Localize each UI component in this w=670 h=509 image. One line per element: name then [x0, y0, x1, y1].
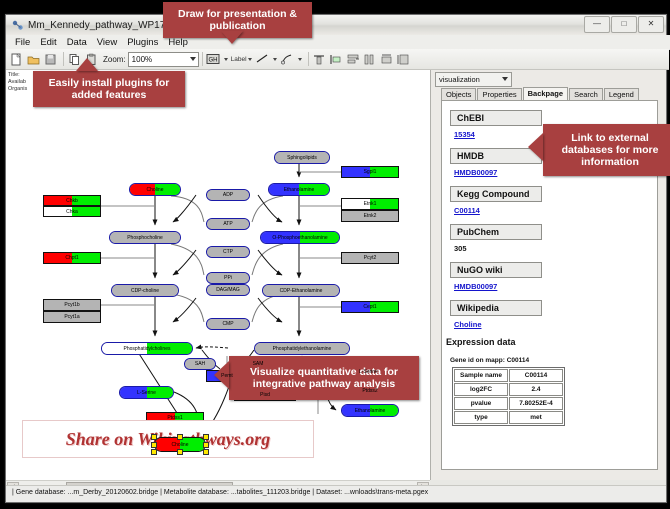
meta-availability: Availab: [8, 79, 27, 86]
toolbar-separator-3: [308, 52, 309, 66]
meta-title: Title:: [8, 72, 27, 79]
selection-handle-6[interactable]: [177, 449, 183, 455]
db-name-chebi: ChEBI: [450, 110, 542, 126]
interaction-icon[interactable]: [280, 52, 295, 67]
title-bar: Mm_Kennedy_pathway_WP1771_45176.gpml — □…: [6, 15, 666, 36]
pathway-node-phosphatidylethanolamine[interactable]: Phosphatidylethanolamine: [254, 342, 350, 355]
db-name-pubchem: PubChem: [450, 224, 542, 240]
minimize-button[interactable]: —: [584, 16, 610, 33]
pathway-node-label: Sgpl1: [364, 169, 377, 175]
label-tool-text[interactable]: Label: [231, 56, 247, 63]
expr-val-3: met: [509, 411, 563, 424]
pathway-node-ethanolamine_top[interactable]: Ethanolamine: [268, 183, 330, 196]
distribute-vertical-icon[interactable]: [346, 52, 361, 67]
db-block-pubchem: PubChem 305: [450, 222, 657, 253]
pathway-canvas[interactable]: Title: Availab Organis: [6, 70, 431, 480]
db-link-nugo[interactable]: HMDB00097: [454, 282, 657, 291]
expr-val-1: 2.4: [509, 383, 563, 396]
visualization-select-value: visualization: [439, 75, 480, 84]
menu-plugins[interactable]: Plugins: [122, 36, 163, 49]
pathway-node-pcyt1a[interactable]: Pcyt1a: [43, 311, 101, 323]
menu-bar: File Edit Data View Plugins Help: [6, 35, 670, 50]
db-block-wikipedia: Wikipedia Choline: [450, 298, 657, 329]
db-name-nugo: NuGO wiki: [450, 262, 542, 278]
pathway-node-label: Phosphocholine: [127, 235, 163, 241]
pathway-node-label: Choline: [172, 442, 189, 448]
pathway-node-label: Phosphatidylethanolamine: [273, 346, 332, 352]
pathway-node-label: Choline: [147, 187, 164, 193]
pathway-node-cdp_ethanolamine[interactable]: CDP-Ethanolamine: [262, 284, 340, 297]
common-height-icon[interactable]: [397, 52, 412, 67]
datanode-icon[interactable]: GH: [206, 52, 221, 67]
pathway-node-etnk2[interactable]: Etnk2: [341, 210, 399, 222]
pathway-node-cmp[interactable]: CMP: [206, 318, 250, 330]
meta-organism: Organis: [8, 86, 27, 93]
menu-data[interactable]: Data: [62, 36, 92, 49]
expression-data-heading: Expression data: [446, 337, 657, 347]
selection-handle-7[interactable]: [203, 449, 209, 455]
pathway-node-l_serine_left[interactable]: L-Serine: [119, 386, 174, 399]
distribute-horizontal-icon[interactable]: [363, 52, 378, 67]
pathway-node-label: PPi: [224, 275, 232, 281]
zoom-label: Zoom:: [103, 55, 126, 64]
expr-key-1: log2FC: [454, 383, 508, 396]
table-row: Sample name C00114: [454, 369, 563, 382]
callout-links-text: Link to external databases for more info…: [549, 132, 670, 168]
pathway-node-label: Pcyt1b: [64, 302, 79, 308]
pathway-node-label: Pemt: [221, 373, 233, 379]
pathway-node-label: CDP-Ethanolamine: [280, 288, 323, 294]
screenshot-root: Mm_Kennedy_pathway_WP1771_45176.gpml — □…: [0, 0, 670, 509]
expr-val-2: 7.80252E-4: [509, 397, 563, 410]
selection-handle-4[interactable]: [203, 442, 209, 448]
pathway-node-dagmag[interactable]: DAG/MAG: [206, 284, 250, 296]
expression-table: Sample name C00114 log2FC 2.4 pvalue 7.8…: [452, 367, 565, 426]
pathway-node-label: CMP: [222, 321, 233, 327]
pathway-node-label: Pcyt2: [364, 255, 377, 261]
selection-handle-2[interactable]: [203, 434, 209, 440]
callout-links: Link to external databases for more info…: [543, 124, 670, 176]
db-name-wikipedia: Wikipedia: [450, 300, 542, 316]
callout-plugins-arrow-icon: [76, 58, 98, 71]
window-buttons: — □ ✕: [584, 16, 664, 33]
pathway-node-label: Etnk1: [364, 201, 377, 207]
pathway-node-ethanolamine_right[interactable]: Ethanolamine: [341, 404, 399, 417]
status-bar: | Gene database: ...m_Derby_20120602.bri…: [6, 485, 666, 502]
canvas-meta-labels: Title: Availab Organis: [8, 72, 27, 93]
pathway-node-label: L-Serine: [359, 369, 378, 375]
selection-handle-5[interactable]: [151, 449, 157, 455]
pathway-node-sah[interactable]: SAH: [184, 358, 216, 370]
datanode-dropdown-arrow-icon[interactable]: [224, 58, 228, 61]
pathway-node-label: DAG/MAG: [216, 287, 240, 293]
open-folder-icon[interactable]: [26, 52, 41, 67]
menu-file[interactable]: File: [10, 36, 35, 49]
callout-visualize-text: Visualize quantitative data for integrat…: [235, 366, 413, 390]
pathway-node-label: Chpt1: [65, 255, 78, 261]
table-row: log2FC 2.4: [454, 383, 563, 396]
tab-backpage[interactable]: Backpage: [523, 87, 568, 101]
app-icon: [11, 19, 24, 32]
line-dropdown-arrow-icon[interactable]: [273, 58, 277, 61]
pathway-node-phosphatidylcholines[interactable]: Phosphatidylcholines: [101, 342, 193, 355]
expr-val-0: C00114: [509, 369, 563, 382]
db-link-wikipedia[interactable]: Choline: [454, 320, 657, 329]
pathway-node-label: Ptdss2: [362, 388, 377, 394]
db-value-pubchem: 305: [454, 244, 657, 253]
toolbar: Zoom: 100% GH Label: [6, 49, 669, 70]
menu-view[interactable]: View: [92, 36, 122, 49]
table-row: type met: [454, 411, 563, 424]
pathway-node-cdp_choline[interactable]: CDP-choline: [111, 284, 179, 297]
maximize-button[interactable]: □: [611, 16, 637, 33]
label-dropdown-arrow-icon[interactable]: [248, 58, 252, 61]
pathway-node-label: SAH: [195, 361, 205, 367]
toolbar-separator-2: [202, 52, 203, 66]
pathway-node-sgpl1[interactable]: Sgpl1: [341, 166, 399, 178]
pathway-node-label: Etnk2: [364, 213, 377, 219]
pathway-node-sphingolipids[interactable]: Sphingolipids: [274, 151, 330, 164]
callout-links-arrow-icon: [528, 133, 543, 161]
db-link-kegg[interactable]: C00114: [454, 206, 657, 215]
pathway-node-chpt1[interactable]: Chpt1: [43, 252, 101, 264]
pathway-node-label: SAM: [253, 361, 264, 367]
pathway-node-label: CTP: [223, 249, 233, 255]
pathway-node-label: Cept1: [363, 304, 376, 310]
pathway-node-label: Ethanolamine: [284, 187, 315, 193]
db-name-kegg: Kegg Compound: [450, 186, 542, 202]
align-left-icon[interactable]: [329, 52, 344, 67]
pathway-node-label: Pcyt1a: [64, 314, 79, 320]
callout-draw-text: Draw for presentation & publication: [169, 8, 306, 32]
line-icon[interactable]: [255, 52, 270, 67]
pathway-node-label: Phosphatidylcholines: [124, 346, 171, 352]
pathway-node-pcyt2[interactable]: Pcyt2: [341, 252, 399, 264]
pathway-node-label: Ethanolamine: [355, 408, 386, 414]
callout-plugins-text: Easily install plugins for added feature…: [39, 77, 179, 101]
menu-edit[interactable]: Edit: [35, 36, 61, 49]
svg-text:GH: GH: [209, 58, 218, 64]
save-disk-icon[interactable]: [43, 52, 58, 67]
expr-key-2: pvalue: [454, 397, 508, 410]
pathway-node-cept1[interactable]: Cept1: [341, 301, 399, 313]
db-block-kegg: Kegg Compound C00114: [450, 184, 657, 215]
expr-key-0: Sample name: [454, 369, 508, 382]
db-block-nugo: NuGO wiki HMDB00097: [450, 260, 657, 291]
table-row: pvalue 7.80252E-4: [454, 397, 563, 410]
pathway-node-label: L-Serine: [137, 390, 156, 396]
chevron-down-icon: [502, 77, 508, 81]
pathway-node-label: Chka: [66, 209, 78, 215]
pathway-node-label: ATP: [223, 221, 232, 227]
pathway-node-label: O-Phosphoethanolamine: [272, 235, 327, 241]
pathway-node-pcyt1b[interactable]: Pcyt1b: [43, 299, 101, 311]
expr-key-3: type: [454, 411, 508, 424]
status-text: | Gene database: ...m_Derby_20120602.bri…: [12, 489, 428, 496]
new-document-icon[interactable]: [9, 52, 24, 67]
zoom-combobox[interactable]: 100%: [128, 52, 199, 67]
zoom-value: 100%: [132, 55, 152, 64]
pathway-node-atp[interactable]: ATP: [206, 218, 250, 230]
pathway-node-ppi[interactable]: PPi: [206, 272, 250, 284]
gene-id-line: Gene id on mapp: C00114: [450, 357, 657, 364]
toolbar-separator: [63, 52, 64, 66]
close-button[interactable]: ✕: [638, 16, 664, 33]
pathway-node-phosphocholine[interactable]: Phosphocholine: [109, 231, 181, 244]
pathway-node-label: Ptdss1: [167, 415, 182, 421]
pathway-node-choline_top[interactable]: Choline: [129, 183, 181, 196]
pathway-node-etnk1[interactable]: Etnk1: [341, 198, 399, 210]
pathway-node-ctp[interactable]: CTP: [206, 246, 250, 258]
selection-handle-0[interactable]: [151, 434, 157, 440]
pathway-node-label: ADP: [223, 192, 233, 198]
align-top-icon[interactable]: [312, 52, 327, 67]
common-width-icon[interactable]: [380, 52, 395, 67]
pathway-node-chkb[interactable]: Chkb: [43, 195, 101, 206]
pathway-node-label: Sphingolipids: [287, 155, 317, 161]
pathway-node-label: Pisd: [260, 392, 270, 398]
chevron-down-icon: [190, 57, 196, 61]
selection-handle-3[interactable]: [151, 442, 157, 448]
pathway-node-label: CDP-choline: [131, 288, 159, 294]
callout-plugins: Easily install plugins for added feature…: [33, 71, 185, 107]
selection-handle-1[interactable]: [177, 434, 183, 440]
pathway-node-o_phosphoethanolamine[interactable]: O-Phosphoethanolamine: [260, 231, 340, 244]
pathway-node-label: Chkb: [66, 198, 78, 204]
pathway-node-chka[interactable]: Chka: [43, 206, 101, 217]
visualization-select[interactable]: visualization: [435, 72, 512, 87]
pathway-node-adp[interactable]: ADP: [206, 189, 250, 201]
callout-draw-arrow-icon: [221, 31, 243, 44]
interaction-dropdown-arrow-icon[interactable]: [298, 58, 302, 61]
